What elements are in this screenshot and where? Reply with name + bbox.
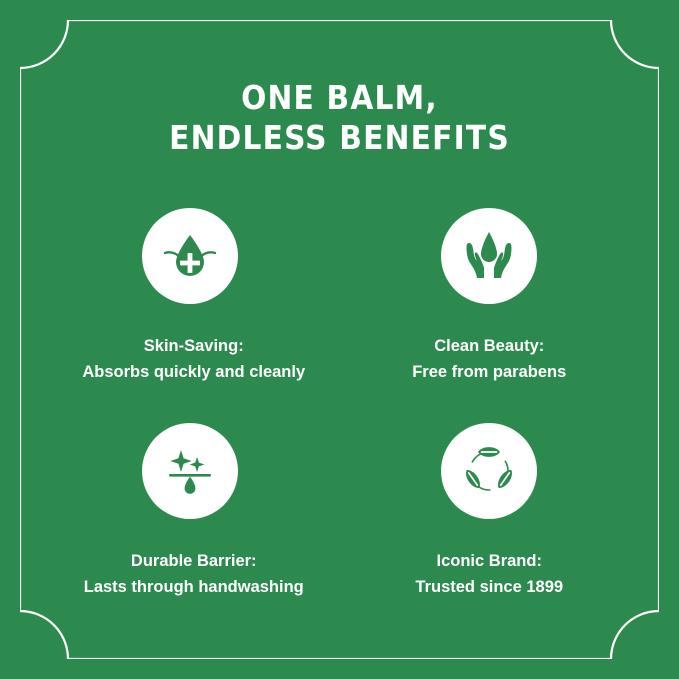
benefit-title: Skin-Saving: (144, 337, 244, 355)
benefit-caption: Clean Beauty: Free from parabens (412, 333, 566, 385)
benefit-icon-badge (441, 423, 537, 519)
benefit-subtitle: Free from parabens (412, 359, 566, 385)
benefit-icon-badge (142, 208, 238, 304)
benefit-caption: Skin-Saving: Absorbs quickly and cleanly (82, 333, 305, 385)
sparkle-water-barrier-icon (163, 444, 217, 498)
headline-line-2: Endless Benefits (0, 118, 679, 158)
benefit-item: Iconic Brand: Trusted since 1899 (340, 423, 640, 638)
benefit-subtitle: Absorbs quickly and cleanly (82, 359, 305, 385)
benefit-icon-badge (142, 423, 238, 519)
benefit-item: Skin-Saving: Absorbs quickly and cleanly (40, 208, 340, 423)
droplet-plus-icon (159, 225, 221, 287)
benefit-item: Durable Barrier: Lasts through handwashi… (40, 423, 340, 638)
hands-holding-droplet-icon (459, 226, 519, 286)
benefit-title: Clean Beauty: (434, 337, 544, 355)
benefit-item: Clean Beauty: Free from parabens (340, 208, 640, 423)
benefit-subtitle: Trusted since 1899 (415, 574, 563, 600)
page-title: One Balm, Endless Benefits (0, 78, 679, 158)
benefit-title: Durable Barrier: (131, 552, 257, 570)
benefit-icon-badge (441, 208, 537, 304)
three-leaves-recycle-icon (460, 442, 518, 500)
benefit-subtitle: Lasts through handwashing (84, 574, 304, 600)
benefit-caption: Iconic Brand: Trusted since 1899 (415, 548, 563, 600)
benefits-grid: Skin-Saving: Absorbs quickly and cleanly (40, 208, 639, 638)
benefit-title: Iconic Brand: (437, 552, 542, 570)
headline-line-1: One Balm, (0, 78, 679, 118)
benefit-caption: Durable Barrier: Lasts through handwashi… (84, 548, 304, 600)
promo-poster: One Balm, Endless Benefits (0, 0, 679, 679)
